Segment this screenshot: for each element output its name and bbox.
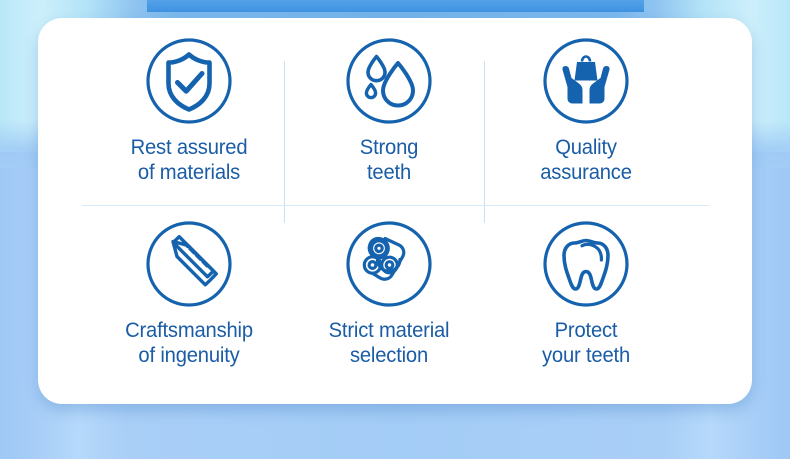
top-blue-band (147, 0, 644, 12)
hands-holding-bag-icon (540, 35, 632, 127)
feature-label: Rest assured of materials (95, 135, 283, 185)
feature-label: Protect your teeth (492, 318, 680, 368)
feature-card: Rest assured of materials Strong teeth (38, 18, 752, 404)
feature-item-quality-assurance[interactable]: Quality assurance (486, 35, 686, 185)
feature-item-protect-teeth[interactable]: Protect your teeth (486, 218, 686, 368)
feature-item-craftsmanship[interactable]: Craftsmanship of ingenuity (89, 218, 289, 368)
feature-item-rest-assured[interactable]: Rest assured of materials (89, 35, 289, 185)
stacked-rolls-icon (343, 218, 435, 310)
crossed-pencil-ruler-icon (143, 218, 235, 310)
water-drops-icon (343, 35, 435, 127)
feature-item-strong-teeth[interactable]: Strong teeth (289, 35, 489, 185)
feature-label: Craftsmanship of ingenuity (95, 318, 283, 368)
shield-check-icon (143, 35, 235, 127)
horizontal-divider (82, 205, 709, 206)
feature-label: Quality assurance (492, 135, 680, 185)
promo-banner: Rest assured of materials Strong teeth (0, 0, 790, 459)
feature-label: Strong teeth (295, 135, 483, 185)
feature-grid: Rest assured of materials Strong teeth (38, 18, 752, 404)
feature-item-strict-material[interactable]: Strict material selection (289, 218, 489, 368)
feature-label: Strict material selection (295, 318, 483, 368)
tooth-icon (540, 218, 632, 310)
